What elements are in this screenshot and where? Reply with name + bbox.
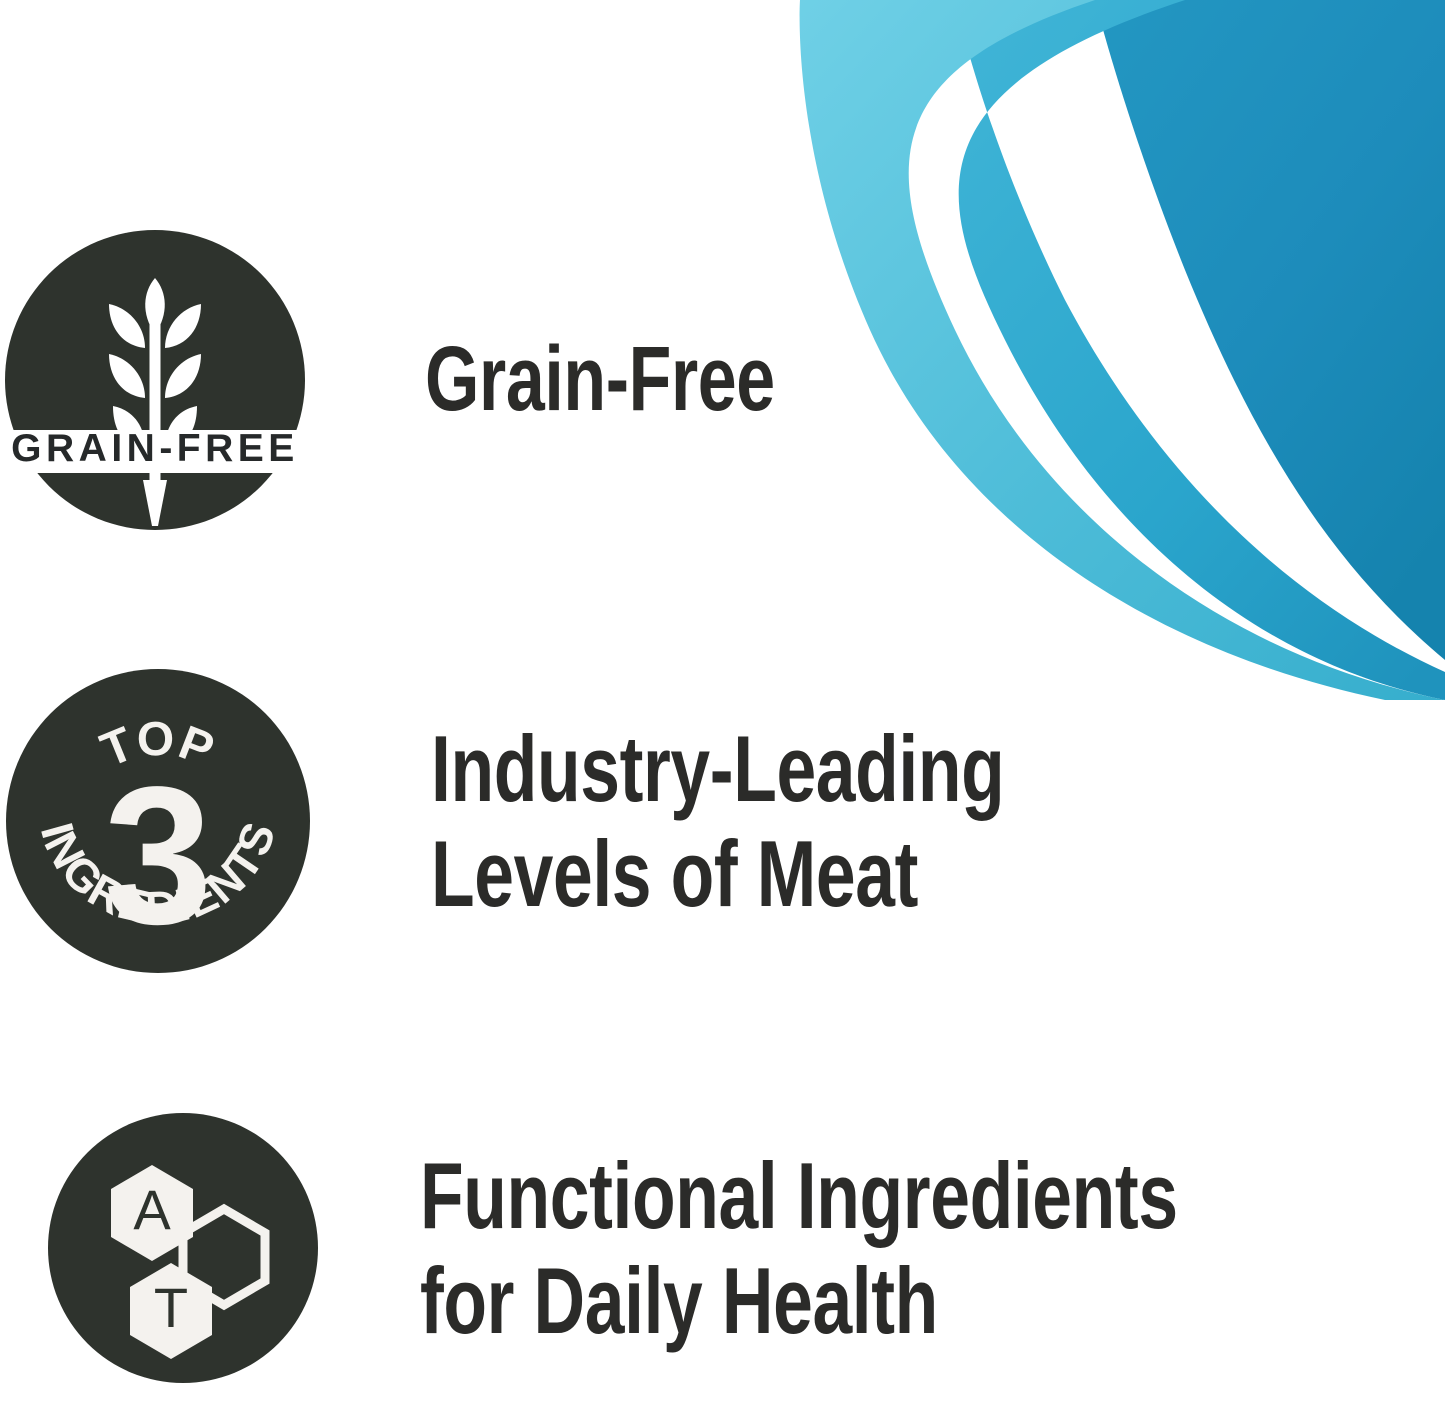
hexagon-label-t: T — [154, 1276, 188, 1339]
feature-heading-functional-ingredients: Functional Ingredients for Daily Health — [420, 1143, 1178, 1354]
feature-row-functional-ingredients: A T Functional Ingredients for Daily Hea… — [0, 1098, 1300, 1398]
functional-ingredients-badge: A T — [48, 1113, 318, 1383]
heading-line: Levels of Meat — [431, 821, 1004, 926]
heading-line: Industry-Leading — [431, 716, 1004, 821]
feature-row-grain-free: GRAIN-FREE Grain-Free — [0, 230, 1300, 530]
feature-row-top-3-ingredients: TOP 3 INGREDIENTS Industry-Leading Level… — [0, 668, 1300, 974]
feature-heading-top-3-ingredients: Industry-Leading Levels of Meat — [431, 716, 1004, 927]
heading-line: Grain-Free — [425, 328, 775, 431]
top-3-ingredients-badge: TOP 3 INGREDIENTS — [5, 668, 311, 974]
grain-free-badge: GRAIN-FREE — [5, 230, 305, 530]
product-feature-infographic: GRAIN-FREE Grain-Free TOP 3 INGREDIENTS — [0, 0, 1445, 1411]
feature-heading-grain-free: Grain-Free — [425, 328, 775, 431]
heading-line: for Daily Health — [420, 1248, 1178, 1353]
heading-line: Functional Ingredients — [420, 1143, 1178, 1248]
grain-free-band-label: GRAIN-FREE — [11, 427, 299, 470]
hexagon-label-a: A — [133, 1178, 171, 1241]
